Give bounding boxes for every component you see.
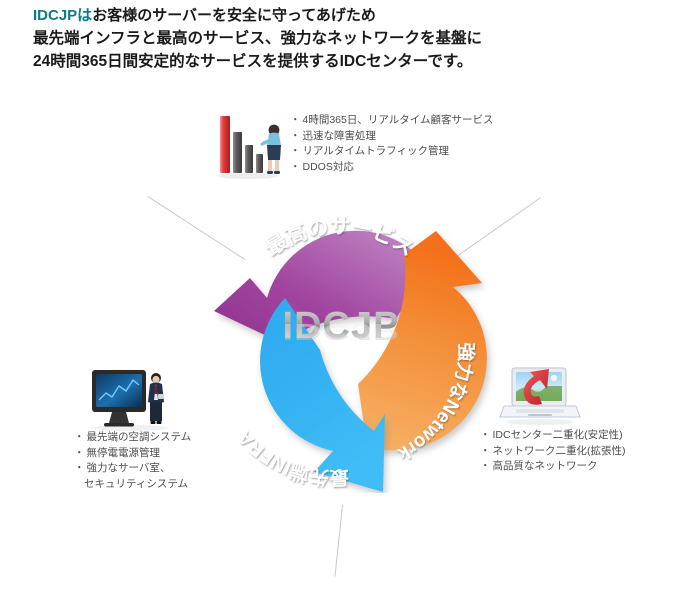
bullet-text: DDOS対応 bbox=[303, 161, 354, 173]
bullet-text: IDCセンター二重化(安定性) bbox=[493, 429, 623, 441]
bullet-marker: ・ bbox=[290, 161, 301, 173]
bullet-item: ・無停電電源管理 bbox=[74, 446, 191, 462]
bullet-text: 最先端の空調システム bbox=[87, 431, 192, 443]
laptop-arrow-icon bbox=[498, 362, 582, 428]
bullet-text: 強力なサーバ室、 bbox=[87, 462, 171, 474]
bullet-text: 4時間365日、リアルタイム顧客サービス bbox=[303, 114, 494, 126]
bullet-text: ネットワーク二重化(拡張性) bbox=[493, 445, 626, 457]
page-title: IDCJPはお客様のサーバーを安全に守ってあげため 最先端インフラと最高のサービ… bbox=[33, 4, 653, 73]
bar-1 bbox=[220, 116, 230, 173]
bullet-item: ・高品質なネットワーク bbox=[480, 459, 626, 475]
headline-line2: 最先端インフラと最高のサービス、強力なネットワークを基盤に bbox=[33, 27, 653, 50]
brand-name: IDCJPは bbox=[33, 7, 92, 24]
bullet-marker: ・ bbox=[290, 114, 301, 126]
cycle-diagram: 最高のサービス 強力なNetwork 最先端INFRA bbox=[170, 193, 510, 493]
bullet-item: ・強力なサーバ室、 bbox=[74, 461, 191, 477]
bullet-item: ・迅速な障害処理 bbox=[290, 129, 494, 145]
bullet-item: ・4時間365日、リアルタイム顧客サービス bbox=[290, 113, 494, 129]
bullet-text: 迅速な障害処理 bbox=[303, 130, 377, 142]
bullet-list-infra: ・最先端の空調システム ・無停電電源管理 ・強力なサーバ室、 セキュリティシステ… bbox=[74, 430, 191, 492]
leader-line-infra bbox=[334, 505, 343, 577]
bar-3 bbox=[245, 145, 253, 173]
bullet-marker: ・ bbox=[74, 431, 85, 443]
monitor-shape bbox=[92, 370, 146, 427]
bullet-list-network: ・IDCセンター二重化(安定性) ・ネットワーク二重化(拡張性) ・高品質なネッ… bbox=[480, 428, 626, 475]
bullet-text: セキュリティシステム bbox=[74, 477, 191, 493]
headline-line3: 24時間365日間安定的なサービスを提供するIDCセンターです。 bbox=[33, 50, 653, 73]
bullet-list-service: ・4時間365日、リアルタイム顧客サービス ・迅速な障害処理 ・リアルタイムトラ… bbox=[290, 113, 494, 175]
bar-chart-presenter-icon bbox=[212, 106, 288, 180]
bullet-text: リアルタイムトラフィック管理 bbox=[303, 145, 449, 157]
bullet-marker: ・ bbox=[290, 130, 301, 142]
bullet-item-continuation: セキュリティシステム bbox=[74, 477, 191, 493]
bullet-text: 高品質なネットワーク bbox=[493, 460, 598, 472]
presenter-figure bbox=[260, 125, 281, 174]
bullet-marker: ・ bbox=[480, 445, 491, 457]
infographic-canvas: IDCJPはお客様のサーバーを安全に守ってあげため 最先端インフラと最高のサービ… bbox=[0, 0, 680, 600]
bullet-marker: ・ bbox=[480, 429, 491, 441]
bullet-item: ・IDCセンター二重化(安定性) bbox=[480, 428, 626, 444]
bullet-item: ・リアルタイムトラフィック管理 bbox=[290, 144, 494, 160]
bullet-item: ・最先端の空調システム bbox=[74, 430, 191, 446]
bullet-marker: ・ bbox=[74, 447, 85, 459]
bullet-item: ・ネットワーク二重化(拡張性) bbox=[480, 444, 626, 460]
bullet-marker: ・ bbox=[290, 145, 301, 157]
bullet-marker: ・ bbox=[480, 460, 491, 472]
headline-line1-rest: お客様のサーバーを安全に守ってあげため bbox=[92, 7, 376, 24]
bar-2 bbox=[233, 132, 242, 173]
bullet-text: 無停電電源管理 bbox=[87, 447, 161, 459]
bullet-marker: ・ bbox=[74, 462, 85, 474]
bar-4 bbox=[256, 154, 263, 173]
bullet-item: ・DDOS対応 bbox=[290, 160, 494, 176]
businessman-figure bbox=[148, 373, 164, 424]
monitor-businessman-icon bbox=[86, 366, 174, 434]
